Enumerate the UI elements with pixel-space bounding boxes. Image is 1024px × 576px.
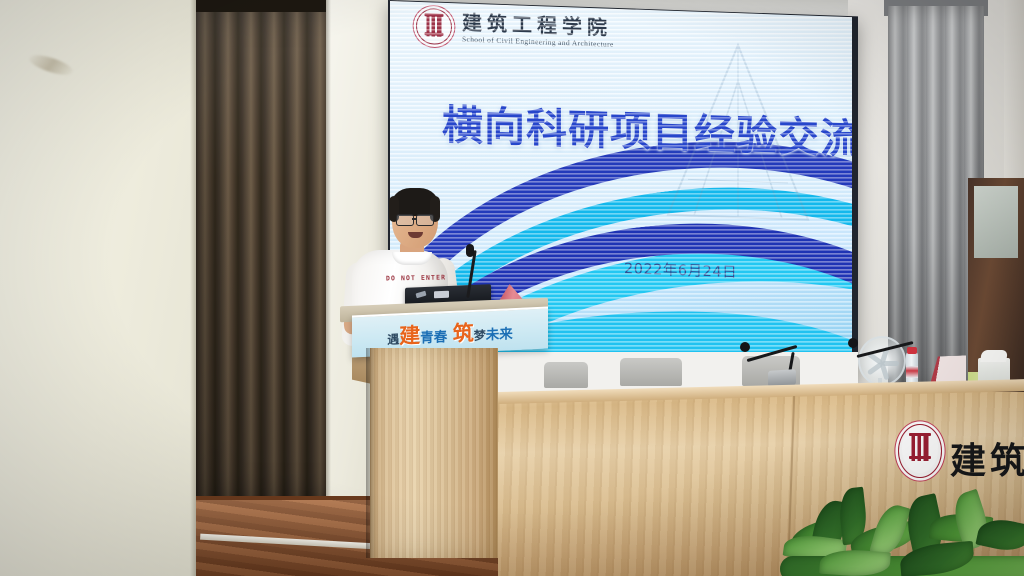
banner-part-4: 梦 — [474, 328, 486, 343]
glasses-bridge — [412, 218, 417, 220]
water-bottle-label — [906, 366, 918, 378]
podium-microphone-head[interactable] — [466, 244, 474, 257]
side-door-glass — [974, 186, 1018, 258]
chair-back[interactable] — [544, 362, 588, 388]
banner-part-1: 建 — [399, 323, 420, 348]
banner-part-3: 筑 — [453, 321, 474, 346]
desk-microphone-head[interactable] — [848, 338, 858, 348]
water-bottle-cap — [907, 347, 917, 354]
chair-back[interactable] — [620, 358, 682, 386]
podium-banner-text: 遇建青春 筑梦未来 — [387, 315, 513, 351]
speaker-shirt-text: DO NOT ENTER — [380, 273, 452, 282]
podium-side-shadow — [366, 348, 376, 558]
banner-part-2: 青春 — [420, 329, 447, 346]
right-wall-recess — [1004, 0, 1024, 180]
conference-photo-scene: 建筑工程学院 School of Civil Engineering and A… — [0, 0, 1024, 576]
foreground-plant — [780, 470, 1024, 576]
banner-part-0: 遇 — [387, 332, 399, 347]
glasses-icon — [416, 214, 434, 226]
laptop-label — [434, 291, 449, 299]
left-wall — [0, 0, 196, 576]
podium-wood-grain — [370, 348, 498, 558]
banner-part-5: 未来 — [486, 326, 513, 343]
desk-microphone-head[interactable] — [740, 342, 750, 352]
tissue-sheet — [980, 350, 1008, 362]
pillar-edge-shadow — [326, 0, 331, 520]
glasses-icon — [396, 214, 414, 226]
